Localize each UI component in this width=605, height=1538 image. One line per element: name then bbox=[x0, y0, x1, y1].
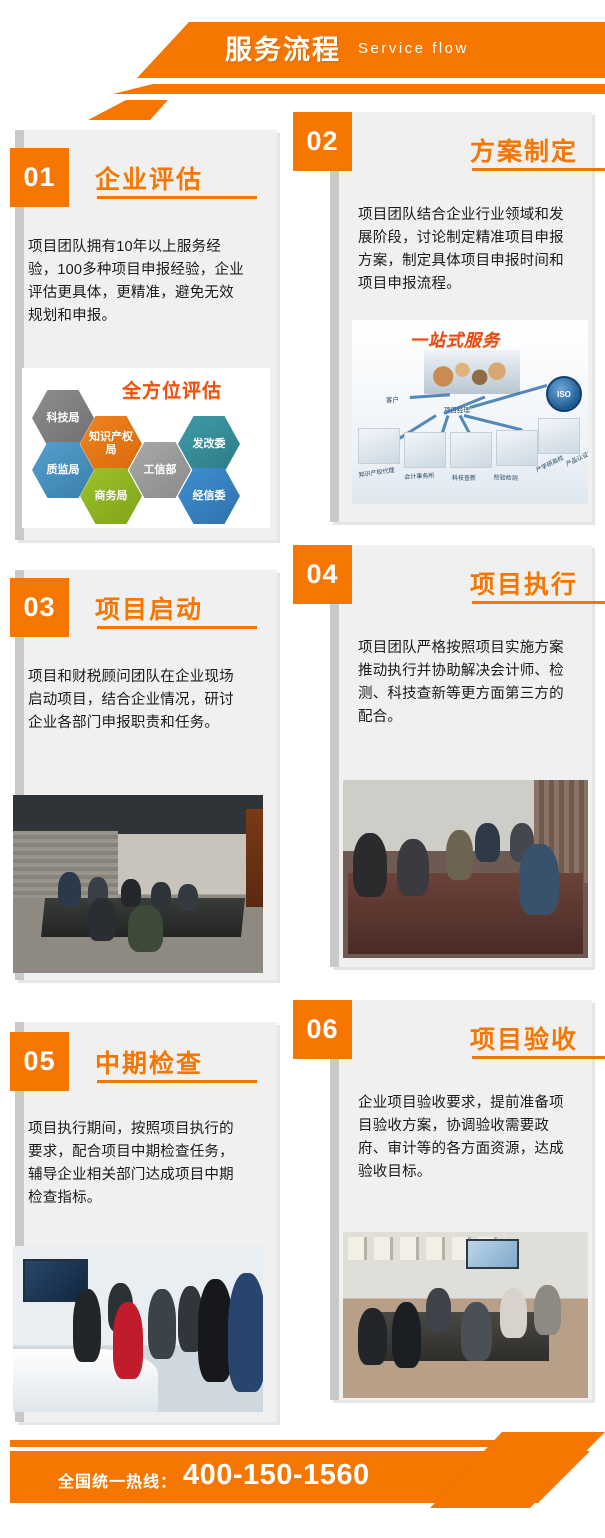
step-title-02: 方案制定 bbox=[470, 132, 578, 168]
page-footer: 全国统一热线： 400-150-1560 bbox=[0, 1418, 605, 1538]
photo-person bbox=[88, 898, 116, 941]
photo-person bbox=[121, 879, 141, 907]
title-rule-01 bbox=[97, 196, 257, 199]
step-badge-05: 05 bbox=[10, 1032, 69, 1091]
service-foot-label: 检验检测 bbox=[494, 472, 518, 482]
hotline-label: 全国统一热线： bbox=[58, 1468, 177, 1492]
step-photo-05 bbox=[13, 1246, 263, 1412]
photo-person bbox=[151, 882, 171, 909]
service-cell-ip bbox=[358, 428, 400, 464]
hexagon-node-label: 经信委 bbox=[189, 490, 230, 503]
service-cell-search bbox=[450, 432, 492, 468]
card-left-strip bbox=[330, 1000, 339, 1400]
page-title: 服务流程 bbox=[225, 28, 341, 67]
step-body-01: 项目团队拥有10年以上服务经验，100多种项目申报经验，企业评估更具体，更精准，… bbox=[28, 236, 248, 328]
hexagon-node-label: 科技局 bbox=[43, 412, 84, 425]
card-left-strip bbox=[330, 112, 339, 522]
header-underline-shape bbox=[113, 84, 605, 94]
step-title-03: 项目启动 bbox=[95, 590, 203, 626]
step-badge-01: 01 bbox=[10, 148, 69, 207]
service-cell-accounting bbox=[404, 432, 446, 468]
step-body-05: 项目执行期间，按照项目执行的要求，配合项目中期检查任务，辅导企业相关部门达成项目… bbox=[28, 1118, 246, 1210]
photo-person bbox=[446, 830, 473, 880]
photo-person bbox=[500, 1288, 527, 1338]
photo-person bbox=[461, 1302, 493, 1362]
hexagon-node-label: 发改委 bbox=[189, 438, 230, 451]
step-card-02: 方案制定 项目团队结合企业行业领域和发展阶段，讨论制定精准项目申报方案，制定具体… bbox=[330, 112, 592, 522]
infographic-page: 服务流程 Service flow 01 企业评估 项目团队拥有10年以上服务经… bbox=[0, 0, 605, 1538]
photo-person bbox=[519, 844, 558, 915]
step-title-06: 项目验收 bbox=[470, 1020, 578, 1056]
service-foot-label: 科技查新 bbox=[452, 473, 476, 482]
step-body-03: 项目和财税顾问团队在企业现场启动项目，结合企业情况，研讨企业各部门申报职责和任务… bbox=[28, 666, 246, 735]
step-photo-06 bbox=[343, 1232, 588, 1398]
service-diagram-graphic: 一站式服务 客户 项目经理 ISO 知识产权代理 会计事务所 科技查新 检验检测… bbox=[352, 320, 588, 504]
step-photo-04 bbox=[343, 780, 588, 958]
photo-person bbox=[73, 1289, 101, 1362]
service-cell-testing bbox=[496, 430, 538, 466]
hexagon-node-label: 商务局 bbox=[91, 490, 132, 503]
photo-person bbox=[228, 1273, 263, 1393]
hotline-number: 400-150-1560 bbox=[183, 1459, 370, 1492]
title-rule-04 bbox=[472, 601, 605, 604]
photo-wood-panel bbox=[246, 809, 264, 907]
photo-person bbox=[178, 884, 198, 911]
hexagon-node-label: 质监局 bbox=[43, 464, 84, 477]
service-arrow bbox=[464, 414, 523, 431]
photo-person bbox=[128, 905, 163, 951]
card-left-strip bbox=[330, 545, 339, 967]
photo-person bbox=[58, 872, 81, 908]
service-label-customer: 客户 bbox=[386, 394, 399, 404]
step-title-05: 中期检查 bbox=[95, 1044, 203, 1080]
iso-seal-icon: ISO bbox=[546, 376, 582, 412]
title-rule-03 bbox=[97, 626, 257, 629]
header-slash-accent bbox=[88, 100, 168, 120]
photo-person bbox=[397, 839, 429, 896]
title-rule-05 bbox=[97, 1080, 257, 1083]
title-rule-06 bbox=[472, 1056, 605, 1059]
step-photo-03 bbox=[13, 795, 263, 973]
photo-person bbox=[392, 1302, 421, 1368]
step-body-04: 项目团队严格按照项目实施方案推动执行并协助解决会计师、检测、科技查新等更方面第三… bbox=[358, 637, 576, 729]
photo-person bbox=[534, 1285, 561, 1335]
service-foot-label: 知识产权代理 bbox=[358, 465, 395, 479]
hexagon-node-label: 工信部 bbox=[140, 464, 181, 477]
title-rule-02 bbox=[472, 168, 605, 171]
service-foot-label: 产学研高校 bbox=[534, 453, 565, 474]
step-badge-06: 06 bbox=[293, 1000, 352, 1059]
step-badge-04: 04 bbox=[293, 545, 352, 604]
service-cell-university bbox=[538, 418, 580, 454]
page-subtitle: Service flow bbox=[358, 40, 469, 57]
step-badge-03: 03 bbox=[10, 578, 69, 637]
photo-person bbox=[475, 823, 500, 862]
step-title-01: 企业评估 bbox=[95, 160, 203, 196]
hexagon-node-label: 知识产权局 bbox=[80, 431, 142, 456]
photo-person bbox=[353, 833, 387, 897]
service-arrow bbox=[410, 393, 450, 399]
photo-person bbox=[426, 1288, 451, 1331]
hexagon-graphic-title: 全方位评估 bbox=[122, 376, 222, 403]
service-diagram-title: 一站式服务 bbox=[410, 326, 500, 351]
photo-person bbox=[358, 1308, 387, 1364]
step-title-04: 项目执行 bbox=[470, 565, 578, 601]
photo-person bbox=[148, 1289, 176, 1359]
photo-person bbox=[113, 1302, 143, 1378]
hexagon-cluster-graphic: 全方位评估 科技局 质监局 知识产权局 商务局 工信部 发改委 经信委 bbox=[22, 368, 270, 528]
service-diagram-team-photo bbox=[424, 350, 520, 394]
photo-projector-screen bbox=[466, 1239, 520, 1269]
service-foot-label: 会计事务所 bbox=[404, 470, 434, 481]
step-body-06: 企业项目验收要求，提前准备项目验收方案，协调验收需要政府、审计等的各方面资源，达… bbox=[358, 1092, 576, 1184]
step-badge-02: 02 bbox=[293, 112, 352, 171]
step-body-02: 项目团队结合企业行业领域和发展阶段，讨论制定精准项目申报方案，制定具体项目申报时… bbox=[358, 204, 576, 296]
page-header: 服务流程 Service flow bbox=[0, 0, 605, 120]
